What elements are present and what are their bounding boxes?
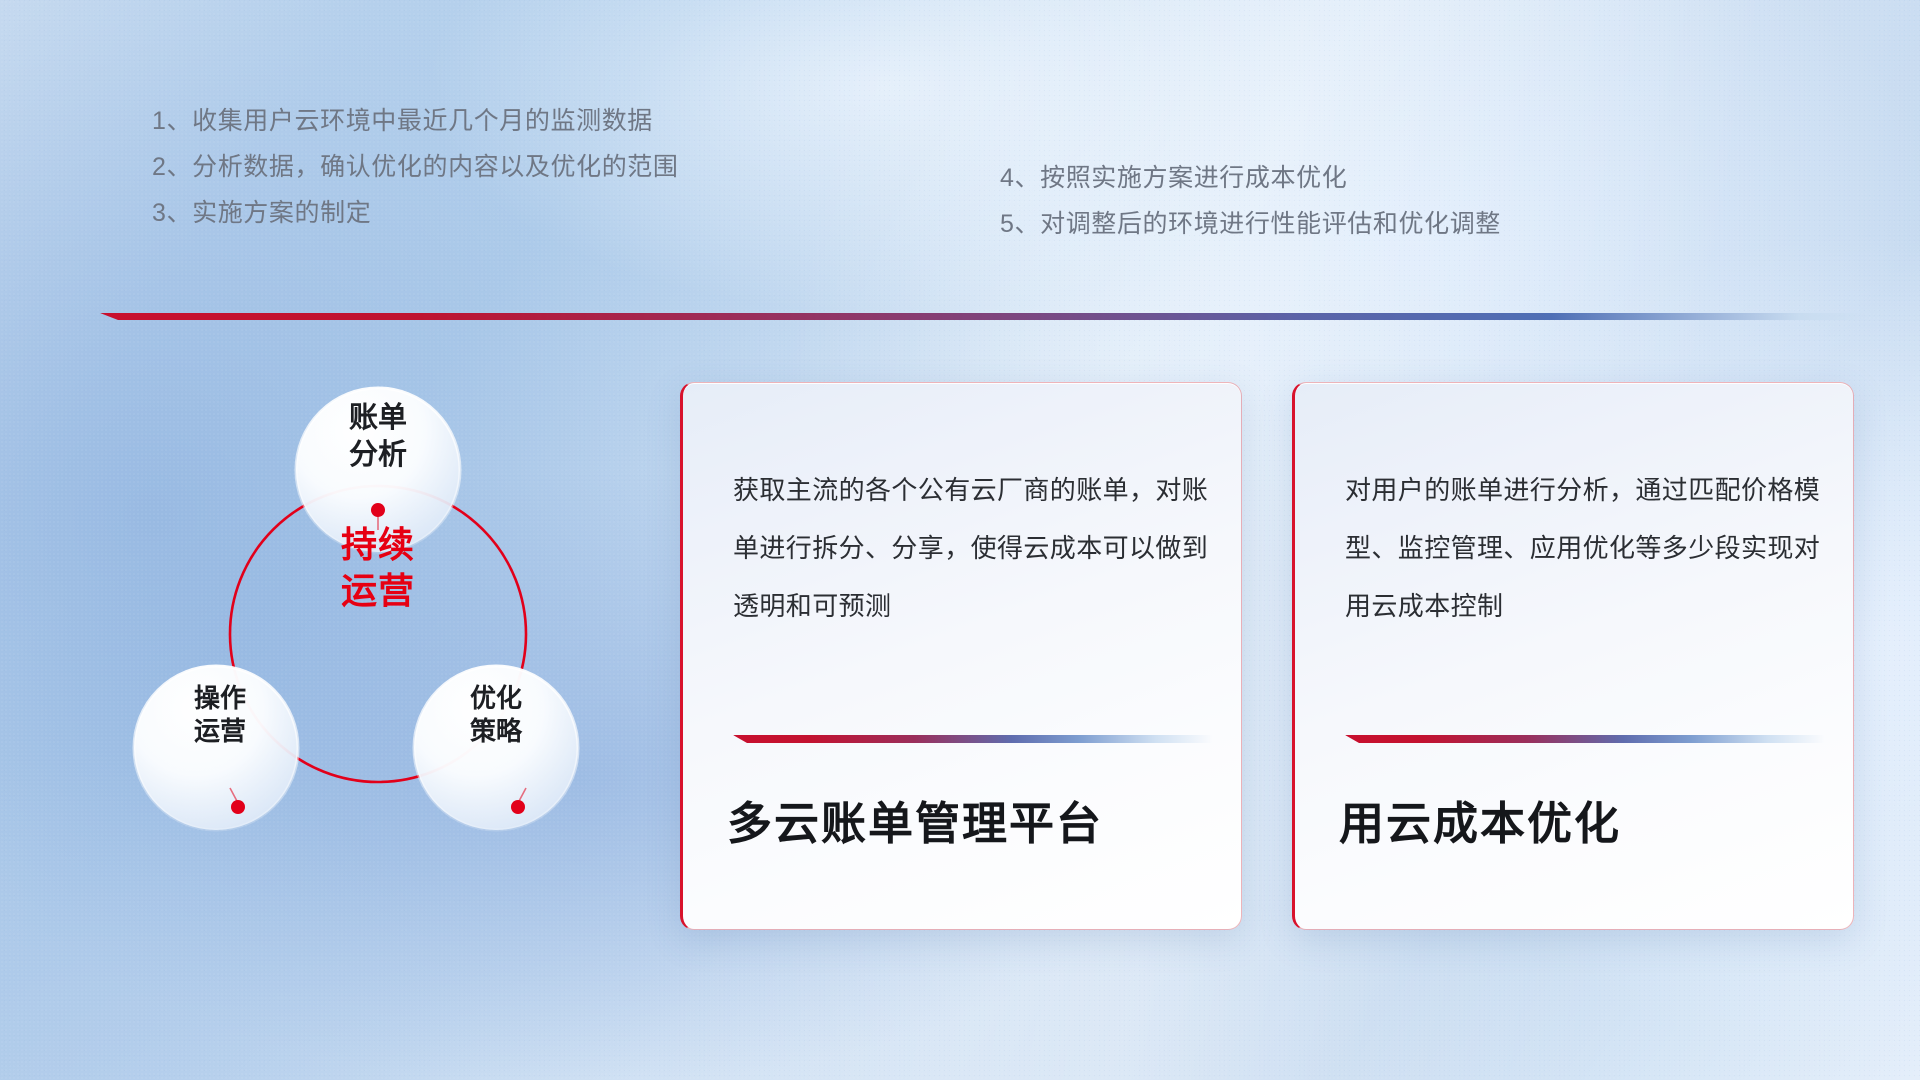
bubble-label-bill-line1: 账单 [298, 400, 458, 437]
center-label-line2: 运营 [298, 568, 458, 614]
bullet-list-right: 4、按照实施方案进行成本优化 5、对调整后的环境进行性能评估和优化调整 [1000, 155, 1501, 247]
card-title: 多云账单管理平台 [727, 787, 1103, 852]
bubble-label-ops-line2: 运营 [140, 715, 300, 748]
continuous-operation-diagram: 账单 分析 持续 运营 操作 运营 优化 策略 [98, 352, 618, 932]
bubble-label-optimization: 优化 策略 [416, 682, 576, 749]
card-title: 用云成本优化 [1339, 787, 1621, 852]
info-card-cost-optimization: 对用户的账单进行分析，通过匹配价格模型、监控管理、应用优化等多少段实现对用云成本… [1292, 382, 1854, 930]
bullet-item-5: 5、对调整后的环境进行性能评估和优化调整 [1000, 201, 1501, 247]
bullet-item-4: 4、按照实施方案进行成本优化 [1000, 155, 1501, 201]
bullet-item-1: 1、收集用户云环境中最近几个月的监测数据 [152, 98, 679, 144]
card-divider-bar [733, 735, 1213, 743]
card-body-text: 对用户的账单进行分析，通过匹配价格模型、监控管理、应用优化等多少段实现对用云成本… [1345, 461, 1823, 635]
card-divider-bar [1345, 735, 1825, 743]
bubble-label-ops-line1: 操作 [140, 682, 300, 715]
info-card-multicloud-billing: 获取主流的各个公有云厂商的账单，对账单进行拆分、分享，使得云成本可以做到透明和可… [680, 382, 1242, 930]
bullet-item-2: 2、分析数据，确认优化的内容以及优化的范围 [152, 144, 679, 190]
bubble-label-operations: 操作 运营 [140, 682, 300, 749]
center-label-line1: 持续 [298, 522, 458, 568]
bubble-label-opt-line1: 优化 [416, 682, 576, 715]
card-body-text: 获取主流的各个公有云厂商的账单，对账单进行拆分、分享，使得云成本可以做到透明和可… [733, 461, 1211, 635]
bullet-list-left: 1、收集用户云环境中最近几个月的监测数据 2、分析数据，确认优化的内容以及优化的… [152, 98, 679, 236]
bubble-label-opt-line2: 策略 [416, 715, 576, 748]
section-divider-bar [100, 313, 1870, 320]
bubble-label-bill-analysis: 账单 分析 [298, 400, 458, 474]
bubble-label-bill-line2: 分析 [298, 437, 458, 474]
bullet-item-3: 3、实施方案的制定 [152, 190, 679, 236]
center-label-continuous-operation: 持续 运营 [298, 522, 458, 614]
